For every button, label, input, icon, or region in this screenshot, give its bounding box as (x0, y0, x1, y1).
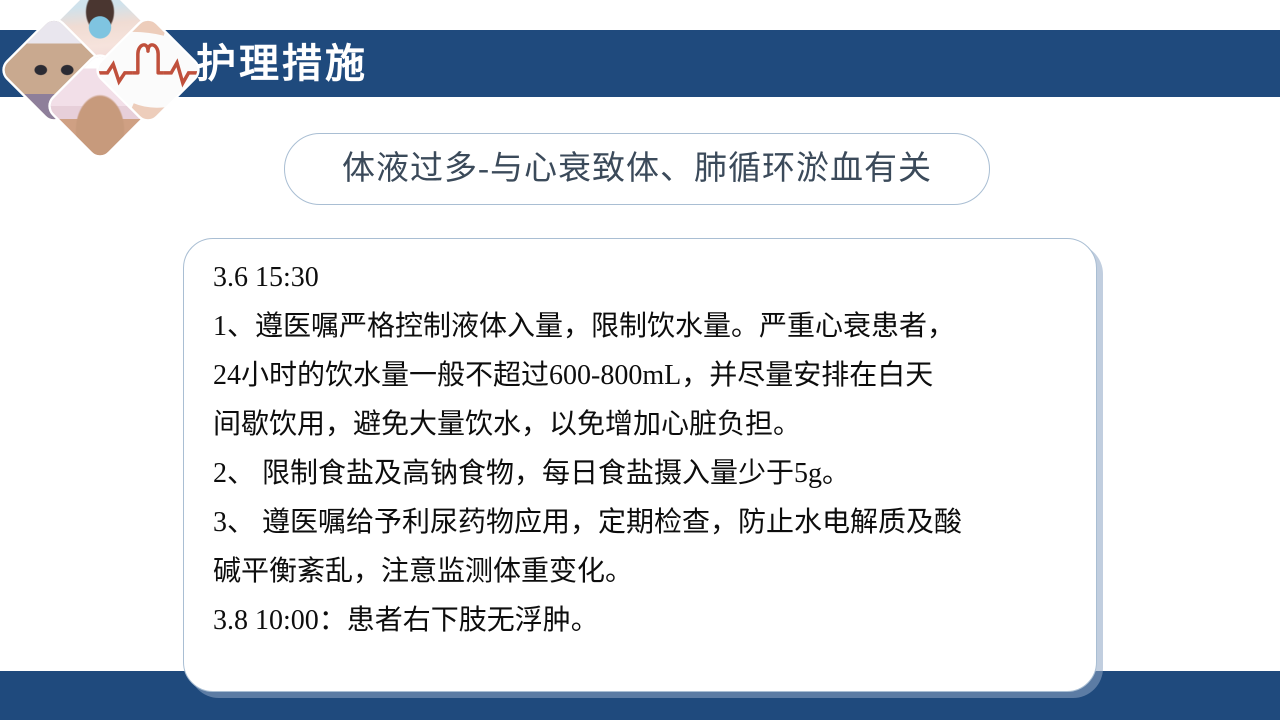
slide-canvas: 护理措施 体液过多-与心衰致体、肺循环淤血有关 3.6 15:30 1、遵医嘱严… (0, 0, 1280, 720)
photo-collage (0, 0, 210, 130)
content-line: 碱平衡紊乱，注意监测体重变化。 (213, 547, 1078, 596)
content-line: 3、 遵医嘱给予利尿药物应用，定期检查，防止水电解质及酸 (213, 498, 1078, 547)
nursing-measures-card: 3.6 15:30 1、遵医嘱严格控制液体入量，限制饮水量。严重心衰患者， 24… (183, 238, 1097, 692)
nursing-measures-text: 3.6 15:30 1、遵医嘱严格控制液体入量，限制饮水量。严重心衰患者， 24… (213, 253, 1078, 645)
content-line: 24小时的饮水量一般不超过600-800mL，并尽量安排在白天 (213, 351, 1078, 400)
content-line: 2、 限制食盐及高钠食物，每日食盐摄入量少于5g。 (213, 449, 1078, 498)
content-line: 间歇饮用，避免大量饮水，以免增加心脏负担。 (213, 400, 1078, 449)
diagnosis-label: 体液过多-与心衰致体、肺循环淤血有关 (342, 153, 932, 186)
diagnosis-pill: 体液过多-与心衰致体、肺循环淤血有关 (284, 133, 990, 205)
content-line: 3.8 10:00：患者右下肢无浮肿。 (213, 596, 1078, 645)
content-line: 1、遵医嘱严格控制液体入量，限制饮水量。严重心衰患者， (213, 302, 1078, 351)
page-title: 护理措施 (196, 34, 368, 94)
content-line: 3.6 15:30 (213, 253, 1078, 302)
